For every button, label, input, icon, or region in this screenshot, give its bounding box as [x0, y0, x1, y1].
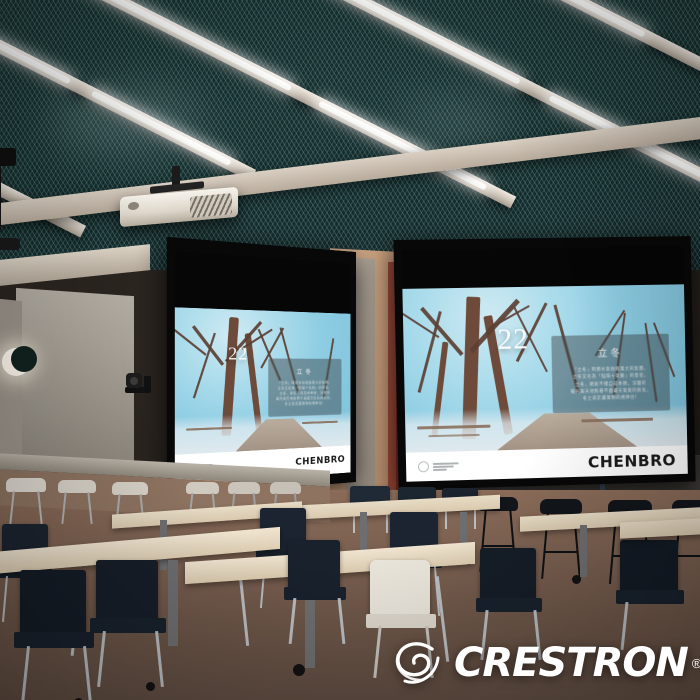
slide-number: 22 [497, 323, 529, 357]
slide-heading: 立冬 [297, 367, 314, 376]
ceiling-projector [120, 182, 238, 222]
slide-text-card: 立冬 「立冬」時節水氣收斂萬大的氣團， 立冬又名為「陰陽十氣動」的意思， 立冬，… [268, 358, 341, 416]
chenbro-mark-icon [418, 461, 429, 472]
chenbro-logo: CHENBRO [295, 454, 345, 467]
pendant-device [0, 148, 16, 166]
chenbro-logo: CHENBRO [588, 451, 676, 472]
disc-wall-sconce [2, 346, 36, 380]
slide-heading: 立冬 [597, 344, 623, 359]
slide-body-line: 冬之道走藏萬物的規律也！ [285, 401, 325, 407]
ceiling [0, 0, 700, 270]
room-photo: 22 立冬 「立冬」時節水氣收斂萬大的氣團， 立冬又名為「陰陽十氣動」的意思， … [0, 0, 700, 700]
slide-photo: 22 立冬 「立冬」時節水氣收斂萬大的氣團， 立冬又名為「陰陽十氣動」的意思， … [175, 307, 351, 455]
screen-surface: 22 立冬 「立冬」時節水氣收斂萬大的氣團， 立冬又名為「陰陽十氣動」的意思， … [402, 246, 688, 482]
ptz-camera [125, 373, 151, 393]
registered-trademark-icon: ® [692, 656, 700, 671]
crestron-logo: CRESTRON ® [392, 640, 700, 686]
footer-caption-lines [433, 462, 459, 471]
slide-footer-caption [418, 460, 459, 472]
projection-screen-right[interactable]: 22 立冬 「立冬」時節水氣收斂萬大的氣團， 立冬又名為「陰陽十氣動」的意思， … [393, 236, 695, 490]
swirl-icon [392, 640, 444, 686]
screen-surface: 22 立冬 「立冬」時節水氣收斂萬大的氣團， 立冬又名為「陰陽十氣動」的意思， … [175, 251, 351, 485]
camera-lens-icon [130, 377, 138, 385]
slide-body-line: 冬之道走藏萬物的規律也！ [583, 394, 640, 403]
crestron-wordmark: CRESTRON [454, 640, 688, 686]
slide-text-card: 立冬 「立冬」時節水氣收斂萬大的氣團， 立冬又名為「陰陽十氣動」的意思， 立冬，… [551, 333, 670, 413]
slide-photo: 22 立冬 「立冬」時節水氣收斂萬大的氣團， 立冬又名為「陰陽十氣動」的意思， … [402, 285, 687, 453]
camera-junction-box [144, 376, 151, 388]
screen-top-mask [402, 246, 684, 289]
sconce-disc [11, 346, 37, 372]
projector-vent [190, 193, 232, 218]
projection-screen-left[interactable]: 22 立冬 「立冬」時節水氣收斂萬大的氣團， 立冬又名為「陰陽十氣動」的意思， … [167, 237, 356, 497]
slide-right: 22 立冬 「立冬」時節水氣收斂萬大的氣團， 立冬又名為「陰陽十氣動」的意思， … [402, 285, 687, 482]
ceiling-reflection [390, 100, 510, 145]
slide-left: 22 立冬 「立冬」時節水氣收斂萬大的氣團， 立冬又名為「陰陽十氣動」的意思， … [175, 307, 351, 485]
slide-number: 22 [228, 343, 248, 365]
wall-panel [0, 299, 22, 466]
